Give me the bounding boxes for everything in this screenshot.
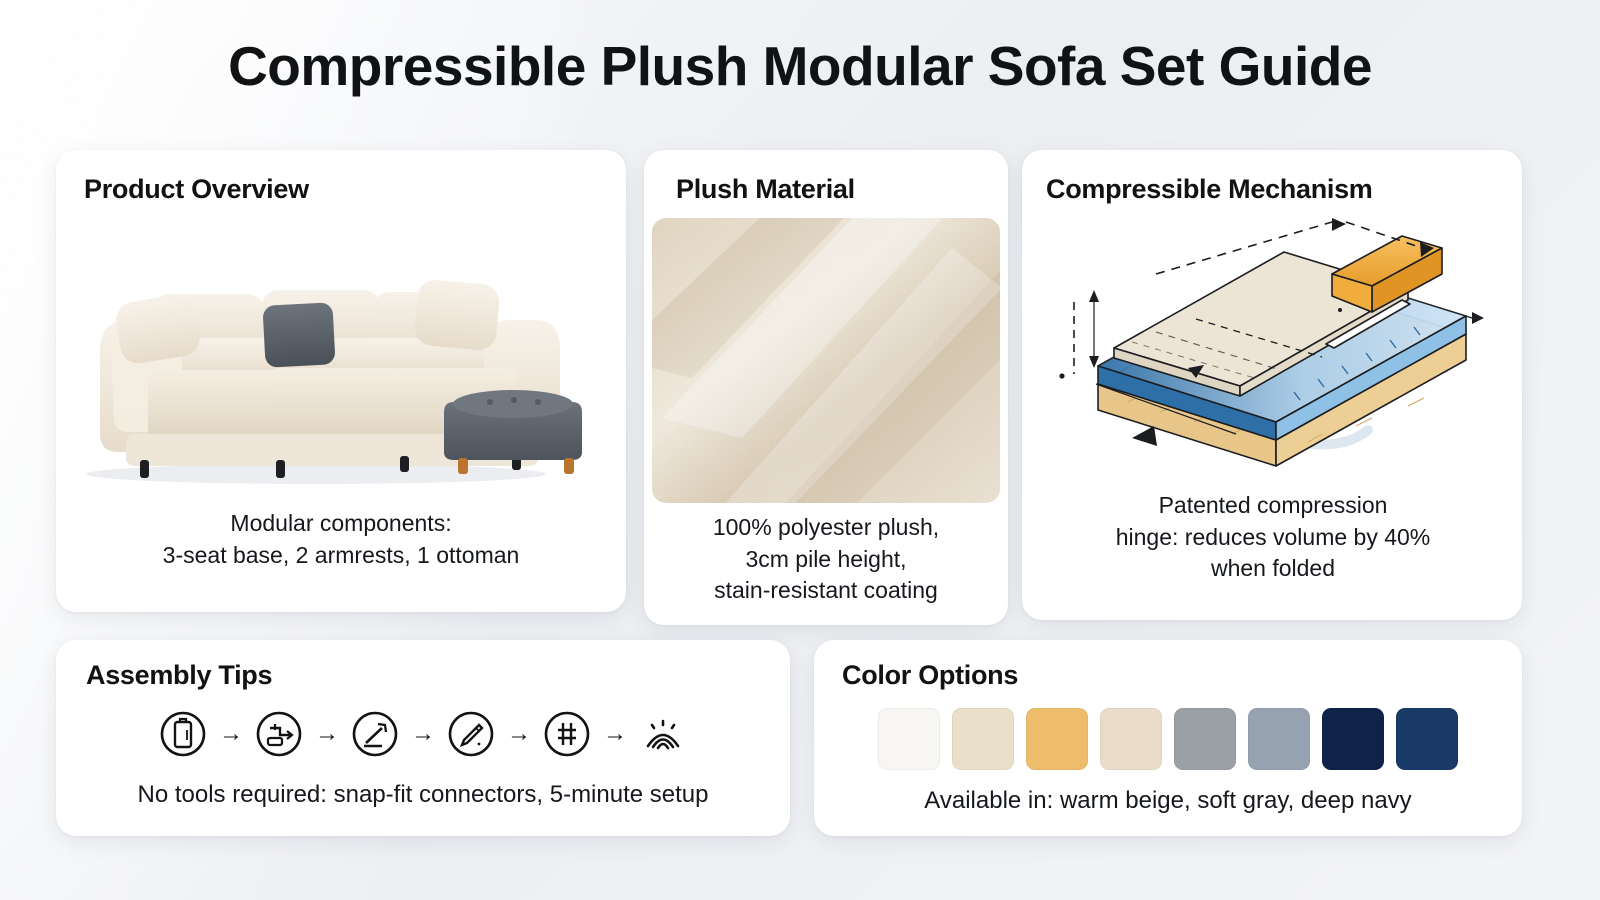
card-caption-color-options: Available in: warm beige, soft gray, dee… <box>826 784 1510 817</box>
finished-sparkle-icon[interactable] <box>635 706 691 762</box>
color-swatch-cool-gray[interactable] <box>1248 708 1310 770</box>
color-swatch-soft-gray[interactable] <box>1174 708 1236 770</box>
card-title-compressible-mechanism: Compressible Mechanism <box>1046 174 1373 205</box>
step-arrow-2: → <box>315 722 339 746</box>
step-arrow-4: → <box>507 722 531 746</box>
page-title-text: Compressible Plush Modular Sofa Set Guid… <box>228 35 1372 97</box>
plush-fabric-macro <box>652 218 1000 503</box>
color-swatch-golden-sand[interactable] <box>1026 708 1088 770</box>
card-title-color-options: Color Options <box>842 660 1018 691</box>
screwdriver-tool-icon[interactable] <box>443 706 499 762</box>
page-title: Compressible Plush Modular Sofa Set Guid… <box>0 34 1600 98</box>
card-caption-product-overview: Modular components: 3-seat base, 2 armre… <box>76 508 606 571</box>
color-swatch-royal-navy[interactable] <box>1396 708 1458 770</box>
caption-line-1: Modular components: <box>230 510 451 536</box>
card-caption-compressible-mechanism: Patented compression hinge: reduces volu… <box>1042 490 1504 585</box>
caption-line-1: Patented compression <box>1159 492 1388 518</box>
card-caption-plush-material: 100% polyester plush, 3cm pile height, s… <box>658 512 994 607</box>
caption-line-3: stain-resistant coating <box>714 577 938 603</box>
color-swatch-row <box>814 708 1522 770</box>
caption-line-2: 3-seat base, 2 armrests, 1 ottoman <box>163 542 520 568</box>
connector-joint-icon[interactable] <box>251 706 307 762</box>
clipboard-checklist-icon[interactable] <box>155 706 211 762</box>
infographic-page: Compressible Plush Modular Sofa Set Guid… <box>0 0 1600 900</box>
caption-line-2: hinge: reduces volume by 40% <box>1116 524 1431 550</box>
compression-hinge-diagram <box>1036 216 1506 476</box>
color-swatch-warm-beige[interactable] <box>952 708 1014 770</box>
step-arrow-3: → <box>411 722 435 746</box>
caption-line-2: 3cm pile height, <box>745 546 906 572</box>
color-swatch-deep-navy[interactable] <box>1322 708 1384 770</box>
caption-line-3: when folded <box>1211 555 1335 581</box>
card-title-assembly-tips: Assembly Tips <box>86 660 272 691</box>
card-color-options: Color Options Available in: warm beige, … <box>814 640 1522 836</box>
card-caption-assembly-tips: No tools required: snap-fit connectors, … <box>68 778 778 811</box>
card-product-overview: Product Overview <box>56 150 626 612</box>
card-assembly-tips: Assembly Tips → → <box>56 640 790 836</box>
caption-line-1: 100% polyester plush, <box>713 514 939 540</box>
frame-grid-icon[interactable] <box>539 706 595 762</box>
color-swatch-light-linen[interactable] <box>1100 708 1162 770</box>
assembly-steps-row: → → → <box>56 706 790 762</box>
card-title-plush-material: Plush Material <box>676 174 855 205</box>
step-arrow-1: → <box>219 722 243 746</box>
step-arrow-5: → <box>603 722 627 746</box>
card-plush-material: Plush Material <box>644 150 1008 625</box>
card-compressible-mechanism: Compressible Mechanism <box>1022 150 1522 620</box>
color-swatch-off-white[interactable] <box>878 708 940 770</box>
sofa-set-photo <box>66 242 616 492</box>
snap-fit-insert-icon[interactable] <box>347 706 403 762</box>
card-title-product-overview: Product Overview <box>84 174 309 205</box>
